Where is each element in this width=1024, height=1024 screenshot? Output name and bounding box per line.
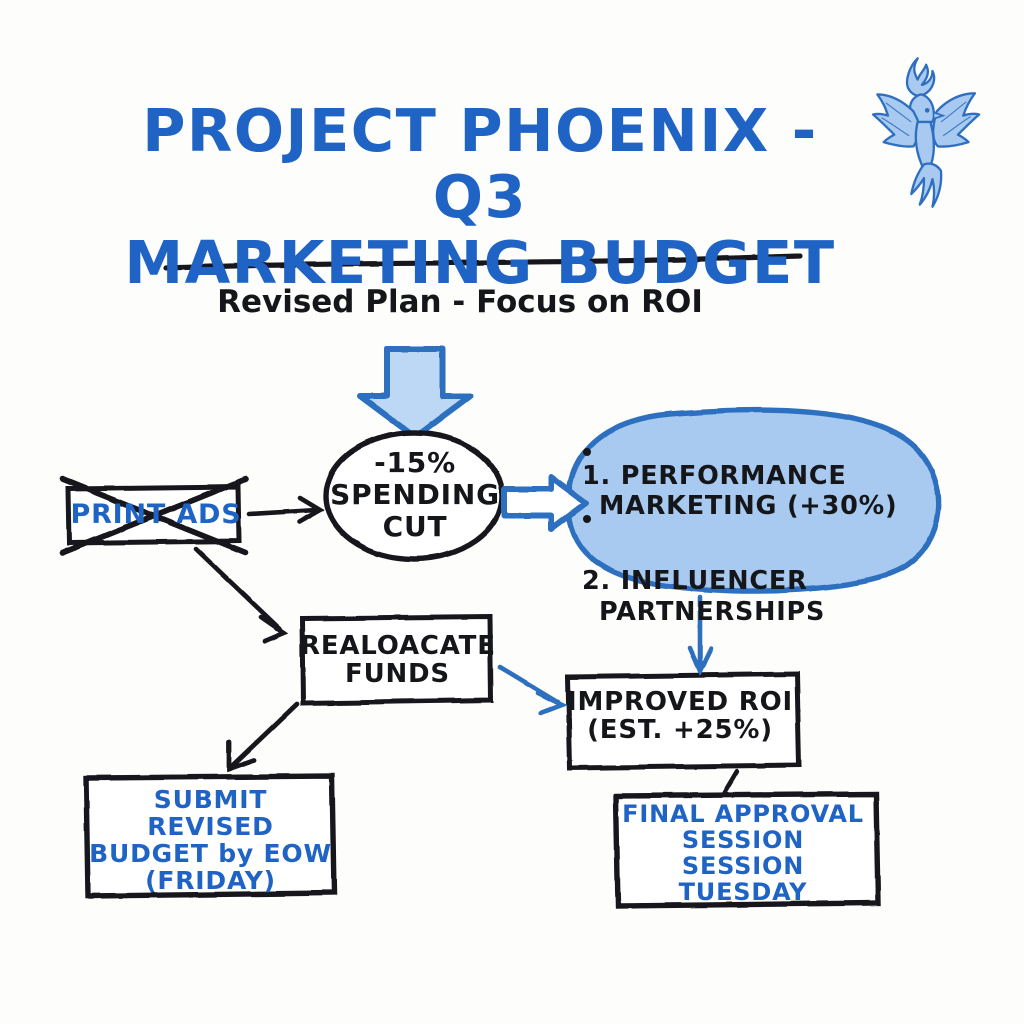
node-spending-cut[interactable] bbox=[326, 433, 502, 559]
node-priorities[interactable] bbox=[568, 410, 939, 591]
bullet-priority-2 bbox=[583, 515, 591, 523]
node-improved-roi[interactable] bbox=[568, 674, 799, 768]
connector-priorities-to-improved-roi bbox=[690, 597, 711, 671]
connector-reallocate-to-submit-budget bbox=[229, 704, 297, 769]
whiteboard-canvas: PROJECT PHOENIX - Q3 MARKETING BUDGET Re… bbox=[0, 0, 1024, 1024]
bullet-priority-1 bbox=[583, 448, 591, 456]
diagram-sketch-layer bbox=[0, 0, 1024, 1024]
connector-print-ads-to-spending-cut bbox=[249, 498, 320, 522]
phoenix-logo bbox=[873, 58, 979, 206]
node-final-approval[interactable] bbox=[616, 794, 878, 906]
node-submit-budget[interactable] bbox=[86, 776, 334, 896]
title-underline bbox=[166, 256, 800, 268]
connector-reallocate-to-improved-roi bbox=[500, 667, 562, 713]
connector-subtitle-to-spending-cut bbox=[360, 349, 470, 437]
connector-print-ads-to-reallocate bbox=[196, 549, 284, 641]
connector-improved-roi-to-final-approval bbox=[724, 771, 737, 793]
node-reallocate-funds[interactable] bbox=[302, 617, 491, 703]
